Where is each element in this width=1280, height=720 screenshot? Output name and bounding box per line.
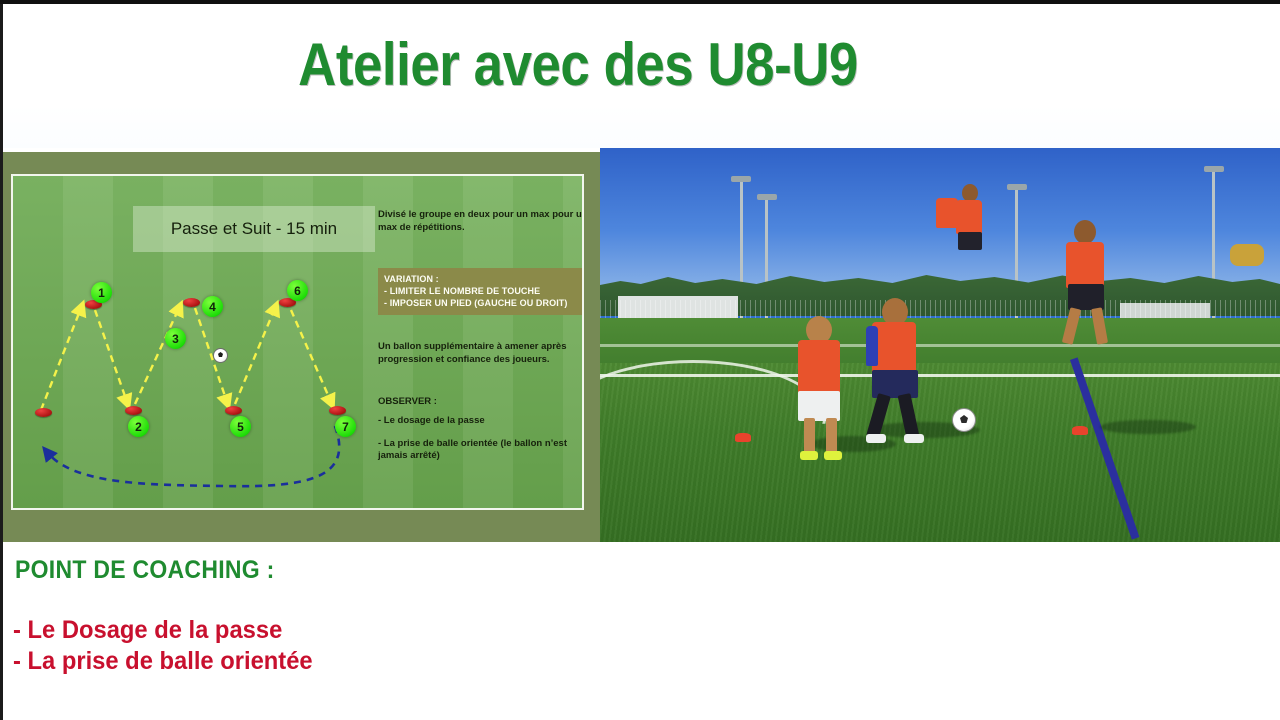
coaching-point-2: - La prise de balle orientée	[13, 647, 313, 676]
return-run-path	[47, 426, 339, 486]
player-undershirt	[866, 326, 878, 366]
drill-notes: Divisé le groupe en deux pour un max pou…	[378, 209, 584, 473]
coaching-section: POINT DE COACHING : - Le Dosage de la pa…	[3, 542, 1280, 720]
cone-marker	[183, 298, 200, 307]
pass-arrow-start-to-1	[41, 308, 81, 410]
variation-item-1: - LIMITER LE NOMBRE DE TOUCHE	[384, 285, 582, 297]
player-bib	[798, 340, 840, 396]
cone-marker	[125, 406, 142, 415]
slide-root: Atelier avec des U8-U9 Passe et Suit - 1…	[0, 0, 1280, 720]
pass-arrow-6-to-7	[291, 310, 331, 402]
pass-arrow-1-to-2	[95, 310, 127, 402]
floodlight-head	[1204, 166, 1224, 172]
soccer-ball-icon	[213, 348, 228, 363]
player-shoe	[824, 451, 842, 460]
page-title: Atelier avec des U8-U9	[72, 30, 1084, 99]
coaching-point-1: - Le Dosage de la passe	[13, 616, 282, 645]
player-bib	[936, 198, 958, 228]
player-marker-2: 2	[128, 416, 149, 437]
variation-box: VARIATION : - LIMITER LE NOMBRE DE TOUCH…	[378, 268, 584, 315]
drill-intro: Divisé le groupe en deux pour un max pou…	[378, 209, 584, 234]
player-head	[1074, 220, 1096, 244]
pass-arrow-2-to-3	[135, 308, 179, 404]
player-shorts	[958, 232, 982, 250]
floodlight-head	[757, 194, 777, 200]
floodlight-head	[731, 176, 751, 182]
training-cone-photo	[1072, 426, 1088, 435]
drill-note: Un ballon supplémentaire à amener après …	[378, 341, 584, 366]
pitch-line-far	[600, 344, 1280, 347]
header-area: Atelier avec des U8-U9	[3, 4, 1280, 148]
cone-marker	[225, 406, 242, 415]
coaching-heading: POINT DE COACHING :	[15, 556, 275, 585]
training-photo	[600, 148, 1280, 542]
pass-arrow-5-to-6	[235, 308, 275, 404]
observe-item-2: - La prise de balle orientée (le ballon …	[378, 438, 584, 463]
player-marker-7: 7	[335, 416, 356, 437]
player-bib	[956, 200, 982, 234]
player-marker-5: 5	[230, 416, 251, 437]
player-marker-4: 4	[202, 296, 223, 317]
player-bib	[872, 322, 916, 376]
player-shorts	[798, 391, 840, 421]
tactic-panel: Passe et Suit - 15 min	[3, 152, 600, 542]
observe-heading: OBSERVER :	[378, 396, 584, 407]
player-shorts	[1068, 284, 1104, 310]
goalkeeper-kit	[1230, 244, 1264, 266]
pitch-diagram: Passe et Suit - 15 min	[11, 174, 584, 510]
floodlight-head	[1007, 184, 1027, 190]
soccer-ball-photo	[952, 408, 976, 432]
player-marker-6: 6	[287, 280, 308, 301]
observe-item-1: - Le dosage de la passe	[378, 415, 584, 428]
variation-heading: VARIATION :	[384, 273, 582, 285]
cone-marker	[329, 406, 346, 415]
variation-item-2: - IMPOSER UN PIED (GAUCHE OU DROIT)	[384, 297, 582, 309]
player-bib	[1066, 242, 1104, 288]
training-cone-photo	[735, 433, 751, 442]
player-shadow	[1100, 420, 1196, 434]
player-shoe	[904, 434, 924, 443]
player-marker-3: 3	[165, 328, 186, 349]
player-shoe	[866, 434, 886, 443]
player-marker-1: 1	[91, 282, 112, 303]
cone-marker	[35, 408, 52, 417]
player-shoe	[800, 451, 818, 460]
